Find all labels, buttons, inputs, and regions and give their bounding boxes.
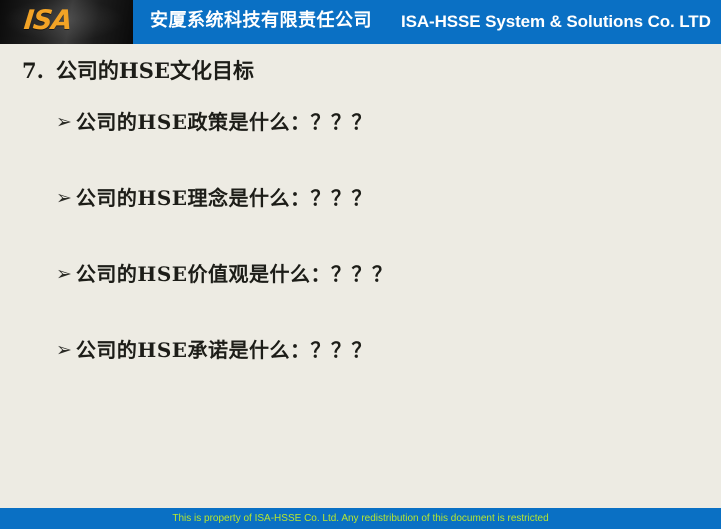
slide-body: 7.公司的HSE文化目标 ➢ 公司的HSE政策是什么：？？？ ➢ 公司的HSE理… (0, 44, 721, 508)
slide-title: 7.公司的HSE文化目标 (22, 56, 254, 86)
list-item-label: 公司的HSE承诺是什么：？？？ (76, 334, 372, 366)
isa-logo: ISA (22, 6, 73, 36)
slide-number: 7. (22, 58, 44, 83)
list-item: ➢ 公司的HSE理念是什么：？？？ (56, 182, 696, 258)
list-item: ➢ 公司的HSE承诺是什么：？？？ (56, 334, 696, 410)
list-item-label: 公司的HSE价值观是什么：？？？ (76, 258, 393, 290)
company-name-english: ISA-HSSE System & Solutions Co. LTD (401, 10, 711, 34)
logo-panel: ISA (0, 0, 133, 44)
arrow-bullet-icon: ➢ (56, 182, 72, 214)
bullet-list: ➢ 公司的HSE政策是什么：？？？ ➢ 公司的HSE理念是什么：？？？ ➢ 公司… (56, 106, 696, 410)
slide-canvas: ISA 安厦系统科技有限责任公司 ISA-HSSE System & Solut… (0, 0, 721, 529)
slide-header: ISA 安厦系统科技有限责任公司 ISA-HSSE System & Solut… (0, 0, 721, 44)
list-item: ➢ 公司的HSE价值观是什么：？？？ (56, 258, 696, 334)
arrow-bullet-icon: ➢ (56, 106, 72, 138)
list-item-label: 公司的HSE政策是什么：？？？ (76, 106, 372, 138)
slide-title-text: 公司的HSE文化目标 (56, 58, 254, 83)
list-item-label: 公司的HSE理念是什么：？？？ (76, 182, 372, 214)
arrow-bullet-icon: ➢ (56, 334, 72, 366)
copyright-notice: This is property of ISA-HSSE Co. Ltd. An… (0, 508, 721, 529)
list-item: ➢ 公司的HSE政策是什么：？？？ (56, 106, 696, 182)
arrow-bullet-icon: ➢ (56, 258, 72, 290)
slide-footer: This is property of ISA-HSSE Co. Ltd. An… (0, 508, 721, 529)
company-name-chinese: 安厦系统科技有限责任公司 (150, 8, 372, 34)
